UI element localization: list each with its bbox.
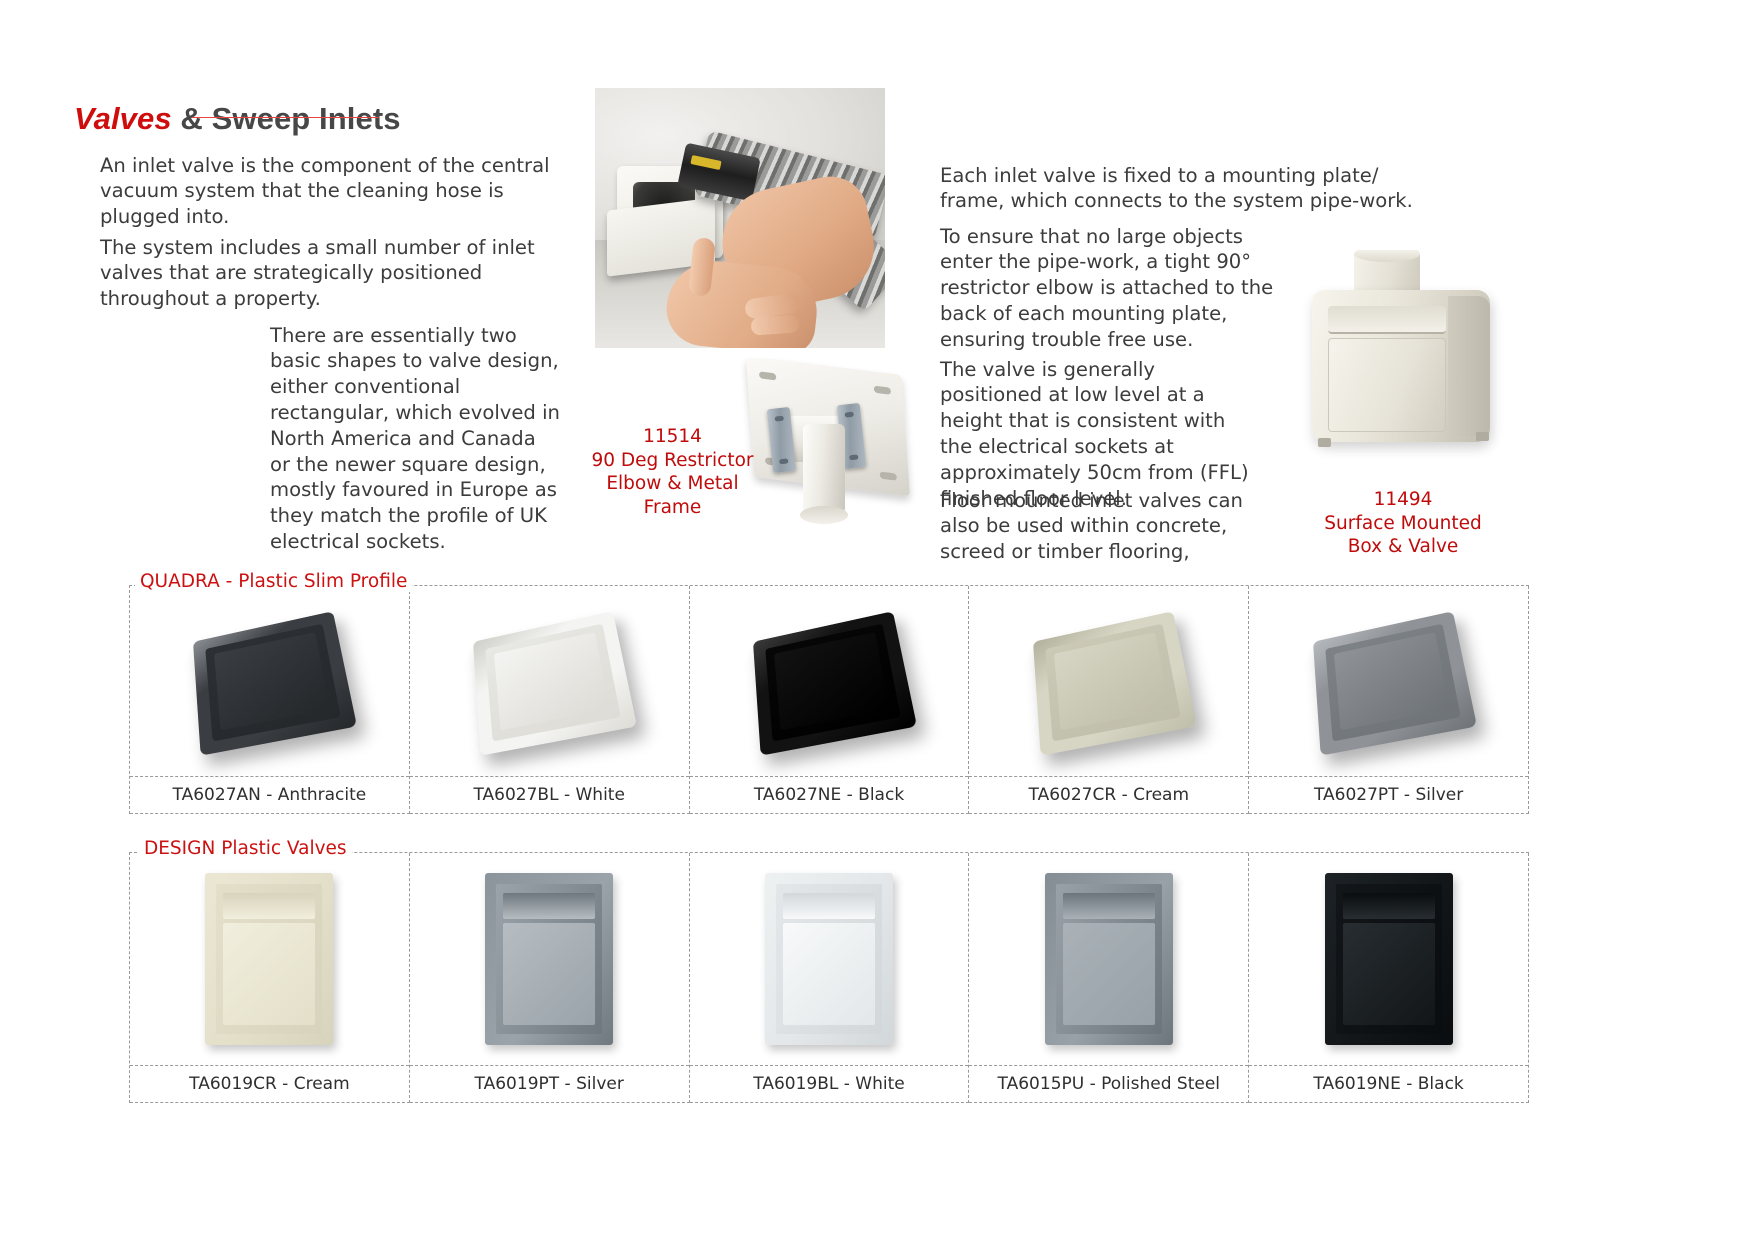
product-grid-quadra: TA6027AN - AnthraciteTA6027BL - WhiteTA6… bbox=[129, 585, 1529, 814]
product-cell[interactable]: TA6015PU - Polished Steel bbox=[969, 853, 1249, 1103]
product-group-quadra: QUADRA - Plastic Slim Profile TA6027AN -… bbox=[129, 585, 1529, 814]
product-image bbox=[690, 586, 969, 776]
product-cell[interactable]: TA6019CR - Cream bbox=[130, 853, 410, 1103]
product-image bbox=[130, 586, 409, 776]
photo-box-valve-lid bbox=[1328, 306, 1446, 334]
photo-box-valve-door bbox=[1328, 338, 1446, 432]
paragraph-left-1: An inlet valve is the component of the c… bbox=[100, 153, 550, 230]
photo-plate-slot-2 bbox=[874, 386, 891, 395]
product-label: TA6027BL - White bbox=[410, 776, 689, 813]
valve-top-slot bbox=[223, 893, 315, 919]
paragraph-right-1: Each inlet valve is fixed to a mounting … bbox=[940, 163, 1415, 215]
valve-door-face bbox=[1063, 923, 1155, 1025]
product-cell[interactable]: TA6027PT - Silver bbox=[1249, 586, 1529, 814]
valve-faceplate-rectangular bbox=[1325, 873, 1453, 1045]
photo-bracket-hole-3 bbox=[845, 412, 854, 418]
photo-bracket-hole-1 bbox=[775, 416, 784, 422]
product-cell[interactable]: TA6027AN - Anthracite bbox=[130, 586, 410, 814]
valve-faceplate-square bbox=[1313, 611, 1477, 755]
photo-box-foot-right bbox=[1476, 432, 1489, 441]
valve-faceplate-square bbox=[1033, 611, 1197, 755]
product-cell[interactable]: TA6019NE - Black bbox=[1249, 853, 1529, 1103]
valve-faceplate-rectangular bbox=[1045, 873, 1173, 1045]
product-group-design: DESIGN Plastic Valves TA6019CR - CreamTA… bbox=[129, 852, 1529, 1103]
product-label: TA6015PU - Polished Steel bbox=[969, 1065, 1248, 1102]
valve-door-face bbox=[1343, 923, 1435, 1025]
product-cell[interactable]: TA6019BL - White bbox=[690, 853, 970, 1103]
product-image bbox=[1249, 586, 1528, 776]
page-title: Valves & Sweep Inlets bbox=[74, 101, 401, 137]
valve-faceplate-rectangular bbox=[205, 873, 333, 1045]
product-image bbox=[130, 853, 409, 1065]
photo-elbow-mouth bbox=[800, 506, 848, 524]
photo-box-side-panel bbox=[1448, 296, 1490, 436]
photo-plate-slot-4 bbox=[880, 472, 897, 481]
product-image bbox=[1249, 853, 1528, 1065]
photo-finger-2 bbox=[750, 314, 799, 335]
product-cell[interactable]: TA6019PT - Silver bbox=[410, 853, 690, 1103]
product-label: TA6019CR - Cream bbox=[130, 1065, 409, 1102]
product-label: TA6027AN - Anthracite bbox=[130, 776, 409, 813]
valve-top-slot bbox=[503, 893, 595, 919]
valve-faceplate-square bbox=[753, 611, 917, 755]
photo-bracket-hole-4 bbox=[849, 454, 858, 460]
photo-box-foot-left bbox=[1318, 438, 1331, 447]
caption-restrictor-elbow: 11514 90 Deg Restrictor Elbow & Metal Fr… bbox=[575, 425, 770, 519]
valve-faceplate-rectangular bbox=[765, 873, 893, 1045]
paragraph-left-2: The system includes a small number of in… bbox=[100, 235, 540, 312]
photo-elbow-vertical-arm bbox=[803, 424, 845, 514]
valve-top-slot bbox=[783, 893, 875, 919]
photo-plate-slot-1 bbox=[759, 371, 776, 380]
valve-door-face bbox=[503, 923, 595, 1025]
product-cell[interactable]: TA6027CR - Cream bbox=[969, 586, 1249, 814]
paragraph-right-4: Floor mounted inlet valves can also be u… bbox=[940, 488, 1260, 565]
product-image bbox=[410, 853, 689, 1065]
valve-top-slot bbox=[1343, 893, 1435, 919]
product-group-quadra-title: QUADRA - Plastic Slim Profile bbox=[135, 571, 412, 592]
page-title-word-sweep-inlets: & Sweep Inlets bbox=[180, 101, 400, 136]
photo-hose-plugged-into-inlet-valve bbox=[595, 88, 885, 348]
valve-door-face bbox=[783, 923, 875, 1025]
paragraph-right-2: To ensure that no large objects enter th… bbox=[940, 224, 1280, 353]
paragraph-left-3: There are essentially two basic shapes t… bbox=[270, 323, 560, 555]
valve-top-slot bbox=[1063, 893, 1155, 919]
photo-bracket-hole-2 bbox=[779, 458, 788, 464]
product-image bbox=[969, 586, 1248, 776]
product-label: TA6019PT - Silver bbox=[410, 1065, 689, 1102]
photo-surface-mounted-box-and-valve bbox=[1300, 250, 1515, 480]
valve-faceplate-square bbox=[193, 611, 357, 755]
title-underline-rule bbox=[192, 117, 379, 118]
product-label: TA6027PT - Silver bbox=[1249, 776, 1528, 813]
product-grid-design: TA6019CR - CreamTA6019PT - SilverTA6019B… bbox=[129, 852, 1529, 1103]
product-group-design-title: DESIGN Plastic Valves bbox=[139, 838, 352, 859]
valve-faceplate-square bbox=[473, 611, 637, 755]
product-image bbox=[410, 586, 689, 776]
product-label: TA6019NE - Black bbox=[1249, 1065, 1528, 1102]
product-image bbox=[690, 853, 969, 1065]
valve-faceplate-rectangular bbox=[485, 873, 613, 1045]
page-title-word-valves: Valves bbox=[74, 101, 172, 136]
product-cell[interactable]: TA6027BL - White bbox=[410, 586, 690, 814]
product-label: TA6027NE - Black bbox=[690, 776, 969, 813]
valve-door-face bbox=[223, 923, 315, 1025]
product-label: TA6019BL - White bbox=[690, 1065, 969, 1102]
caption-surface-mounted-box: 11494 Surface Mounted Box & Valve bbox=[1303, 488, 1503, 559]
product-label: TA6027CR - Cream bbox=[969, 776, 1248, 813]
product-cell[interactable]: TA6027NE - Black bbox=[690, 586, 970, 814]
product-image bbox=[969, 853, 1248, 1065]
